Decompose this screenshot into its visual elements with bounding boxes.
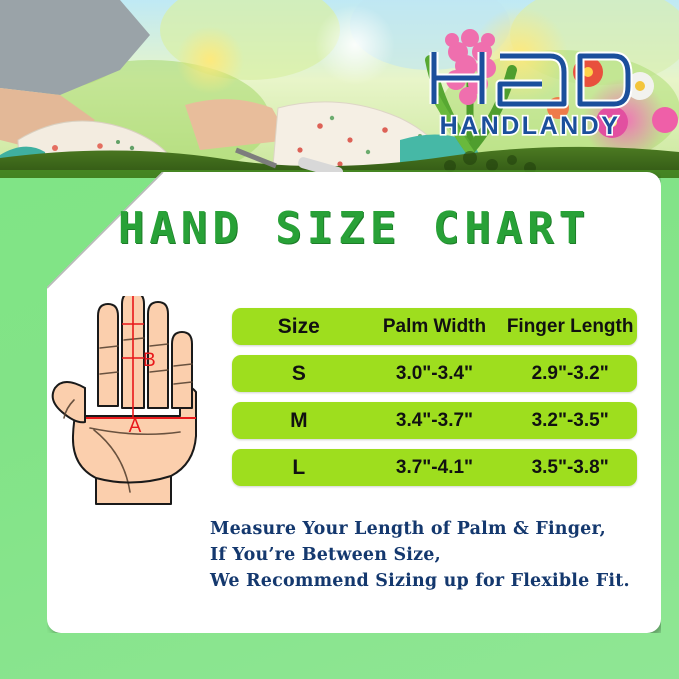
cell-palm-width: 3.4"-3.7" bbox=[366, 410, 504, 432]
hand-palm-diagram: A B bbox=[38, 296, 228, 511]
cell-finger-length: 3.5"-3.8" bbox=[503, 457, 637, 479]
table-row: S 3.0"-3.4" 2.9"-3.2" bbox=[232, 355, 637, 392]
table-header-row: Size Palm Width Finger Length bbox=[232, 308, 637, 345]
sizing-note-line-3: We Recommend Sizing up for Flexible Fit. bbox=[210, 568, 650, 594]
measure-label-b: B bbox=[143, 350, 156, 371]
palm-width-value: 3.4"-3.7" bbox=[396, 410, 473, 431]
finger-length-value: 2.9"-3.2" bbox=[532, 363, 609, 384]
cell-size: M bbox=[232, 409, 366, 433]
table-row: M 3.4"-3.7" 3.2"-3.5" bbox=[232, 402, 637, 439]
size-value: M bbox=[290, 409, 308, 432]
brand-logo: HANDLANDY bbox=[424, 42, 636, 140]
cell-size: L bbox=[232, 456, 366, 480]
hand-size-chart-infographic: HANDLANDY HAND SIZE CHART bbox=[0, 0, 679, 679]
sizing-note-line-2: If You’re Between Size, bbox=[210, 542, 650, 568]
header-cell-size: Size bbox=[232, 315, 366, 339]
header-size-label: Size bbox=[278, 315, 320, 338]
sizing-note: Measure Your Length of Palm & Finger, If… bbox=[210, 516, 650, 594]
measure-label-a: A bbox=[129, 416, 142, 437]
cell-palm-width: 3.0"-3.4" bbox=[366, 363, 504, 385]
table-row: L 3.7"-4.1" 3.5"-3.8" bbox=[232, 449, 637, 486]
cell-palm-width: 3.7"-4.1" bbox=[366, 457, 504, 479]
header-palm-width-label: Palm Width bbox=[383, 316, 486, 337]
cell-finger-length: 2.9"-3.2" bbox=[503, 363, 637, 385]
size-value: L bbox=[292, 456, 305, 479]
page-title: HAND SIZE CHART bbox=[47, 203, 661, 254]
palm-width-value: 3.0"-3.4" bbox=[396, 363, 473, 384]
size-table: Size Palm Width Finger Length S 3.0"-3.4… bbox=[232, 308, 637, 496]
finger-length-value: 3.5"-3.8" bbox=[532, 457, 609, 478]
sizing-note-line-1: Measure Your Length of Palm & Finger, bbox=[210, 516, 650, 542]
size-value: S bbox=[292, 362, 306, 385]
logo-wordmark: HANDLANDY bbox=[440, 112, 621, 140]
cell-size: S bbox=[232, 362, 366, 386]
header-cell-finger-length: Finger Length bbox=[503, 316, 637, 338]
finger-length-value: 3.2"-3.5" bbox=[532, 410, 609, 431]
header-finger-length-label: Finger Length bbox=[507, 316, 634, 337]
cell-finger-length: 3.2"-3.5" bbox=[503, 410, 637, 432]
header-cell-palm-width: Palm Width bbox=[366, 316, 504, 338]
palm-width-value: 3.7"-4.1" bbox=[396, 457, 473, 478]
